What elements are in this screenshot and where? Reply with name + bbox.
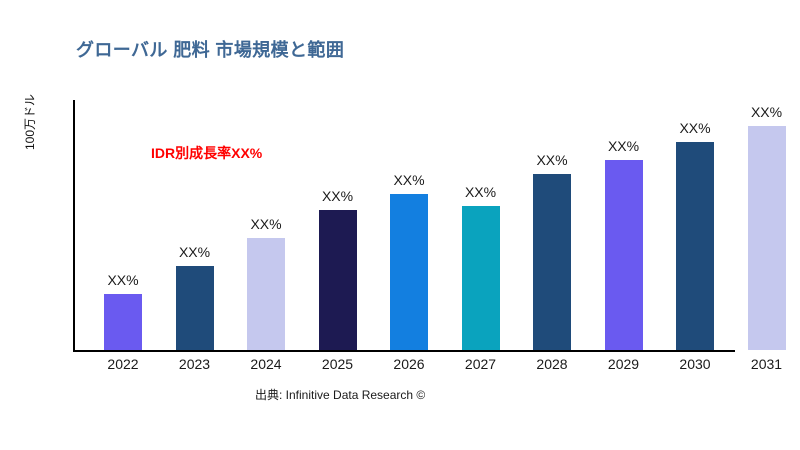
bar-value-label-2025: XX%: [322, 188, 353, 204]
x-tick-2023: 2023: [179, 356, 210, 372]
bar-2029[interactable]: [605, 160, 643, 350]
bar-group-2026: XX%: [373, 100, 445, 350]
bar-group-2027: XX%: [445, 100, 517, 350]
bar-value-label-2029: XX%: [608, 138, 639, 154]
x-axis-tick-labels: 2022202320242025202620272028202920302031: [73, 356, 800, 380]
bar-value-label-2030: XX%: [679, 120, 710, 136]
bar-group-2031: XX%: [731, 100, 800, 350]
bar-2027[interactable]: [462, 206, 500, 350]
bar-2031[interactable]: [748, 126, 786, 350]
bar-group-2029: XX%: [588, 100, 660, 350]
source-note: 出典: Infinitive Data Research ©: [255, 386, 425, 403]
bar-value-label-2027: XX%: [465, 184, 496, 200]
x-tick-2026: 2026: [393, 356, 424, 372]
bar-2023[interactable]: [176, 266, 214, 350]
bar-value-label-2022: XX%: [107, 272, 138, 288]
bar-2022[interactable]: [104, 294, 142, 350]
bar-2025[interactable]: [319, 210, 357, 350]
bar-2026[interactable]: [390, 194, 428, 350]
bar-2028[interactable]: [533, 174, 571, 350]
bar-group-2024: XX%: [230, 100, 302, 350]
bar-group-2022: XX%: [87, 100, 159, 350]
bar-group-2023: XX%: [159, 100, 231, 350]
growth-rate-annotation: IDR別成長率XX%: [151, 143, 262, 163]
plot-area: XX%XX%XX%XX%XX%XX%XX%XX%XX%XX%: [73, 100, 800, 350]
chart-container: グローバル 肥料 市場規模と範囲 100万ドル XX%XX%XX%XX%XX%X…: [0, 0, 800, 450]
x-tick-2030: 2030: [679, 356, 710, 372]
bar-group-2030: XX%: [659, 100, 731, 350]
bar-value-label-2031: XX%: [751, 104, 782, 120]
bar-value-label-2023: XX%: [179, 244, 210, 260]
bar-value-label-2024: XX%: [250, 216, 281, 232]
x-tick-2028: 2028: [536, 356, 567, 372]
x-tick-2031: 2031: [751, 356, 782, 372]
bar-2024[interactable]: [247, 238, 285, 350]
x-tick-2025: 2025: [322, 356, 353, 372]
bar-group-2025: XX%: [302, 100, 374, 350]
chart-title: グローバル 肥料 市場規模と範囲: [76, 36, 344, 62]
x-tick-2029: 2029: [608, 356, 639, 372]
bar-value-label-2026: XX%: [393, 172, 424, 188]
x-tick-2022: 2022: [107, 356, 138, 372]
bar-2030[interactable]: [676, 142, 714, 350]
x-tick-2024: 2024: [250, 356, 281, 372]
bar-group-2028: XX%: [516, 100, 588, 350]
x-axis-line: [73, 350, 735, 352]
bar-value-label-2028: XX%: [536, 152, 567, 168]
x-tick-2027: 2027: [465, 356, 496, 372]
y-axis-label: 100万ドル: [21, 30, 38, 150]
